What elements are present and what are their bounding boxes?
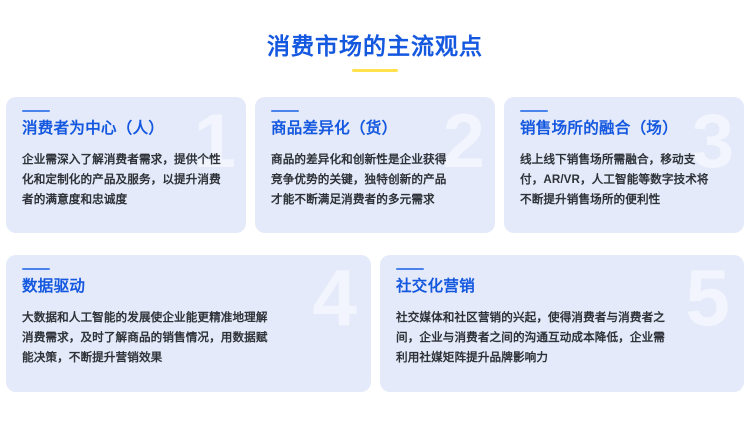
card-body-line: 不断提升销售场所的便利性	[520, 190, 728, 210]
card-body-line: 企业需深入了解消费者需求，提供个性	[22, 150, 230, 170]
card-body-4: 大数据和人工智能的发展使企业能更精准地理解 消费需求，及时了解商品的销售情况，用…	[22, 308, 355, 368]
page-title: 消费市场的主流观点	[0, 31, 750, 61]
card-2[interactable]: 2 商品差异化（货） 商品的差异化和创新性是企业获得 竞争优势的关键，独特创新的…	[255, 97, 495, 233]
card-body-line: 能决策，不断提升营销效果	[22, 348, 355, 368]
card-body-5: 社交媒体和社区营销的兴起，使得消费者与消费者之 间，企业与消费者之间的沟通互动成…	[396, 308, 728, 368]
card-rule-icon	[22, 268, 50, 270]
card-rule-icon	[22, 110, 50, 112]
card-5[interactable]: 5 社交化营销 社交媒体和社区营销的兴起，使得消费者与消费者之 间，企业与消费者…	[380, 255, 744, 392]
card-title-5: 社交化营销	[396, 276, 728, 298]
card-4[interactable]: 4 数据驱动 大数据和人工智能的发展使企业能更精准地理解 消费需求，及时了解商品…	[6, 255, 371, 392]
card-body-1: 企业需深入了解消费者需求，提供个性 化和定制化的产品及服务，以提升消费 者的满意…	[22, 150, 230, 210]
card-rule-icon	[396, 268, 424, 270]
card-3[interactable]: 3 销售场所的融合（场） 线上线下销售场所需融合，移动支 付，AR/VR，人工智…	[504, 97, 744, 233]
card-body-line: 者的满意度和忠诚度	[22, 190, 230, 210]
card-title-1: 消费者为中心（人）	[22, 118, 230, 140]
card-body-2: 商品的差异化和创新性是企业获得 竞争优势的关键，独特创新的产品 才能不断满足消费…	[271, 150, 479, 210]
card-body-line: 线上线下销售场所需融合，移动支	[520, 150, 728, 170]
card-body-line: 消费需求，及时了解商品的销售情况，用数据赋	[22, 328, 355, 348]
card-body-line: 利用社媒矩阵提升品牌影响力	[396, 348, 728, 368]
card-body-3: 线上线下销售场所需融合，移动支 付，AR/VR，人工智能等数字技术将 不断提升销…	[520, 150, 728, 210]
card-body-line: 付，AR/VR，人工智能等数字技术将	[520, 170, 728, 190]
title-block: 消费市场的主流观点	[0, 0, 750, 72]
card-body-line: 间，企业与消费者之间的沟通互动成本降低，企业需	[396, 328, 728, 348]
card-title-3: 销售场所的融合（场）	[520, 118, 728, 140]
card-body-line: 商品的差异化和创新性是企业获得	[271, 150, 479, 170]
card-rule-icon	[520, 110, 548, 112]
card-body-line: 大数据和人工智能的发展使企业能更精准地理解	[22, 308, 355, 328]
infographic-page: 消费市场的主流观点 1 消费者为中心（人） 企业需深入了解消费者需求，提供个性 …	[0, 0, 750, 422]
card-body-line: 竞争优势的关键，独特创新的产品	[271, 170, 479, 190]
card-1[interactable]: 1 消费者为中心（人） 企业需深入了解消费者需求，提供个性 化和定制化的产品及服…	[6, 97, 246, 233]
card-body-line: 才能不断满足消费者的多元需求	[271, 190, 479, 210]
card-body-line: 化和定制化的产品及服务，以提升消费	[22, 170, 230, 190]
card-row-bottom: 4 数据驱动 大数据和人工智能的发展使企业能更精准地理解 消费需求，及时了解商品…	[6, 255, 744, 392]
card-grid: 1 消费者为中心（人） 企业需深入了解消费者需求，提供个性 化和定制化的产品及服…	[6, 97, 744, 392]
card-rule-icon	[271, 110, 299, 112]
card-body-line: 社交媒体和社区营销的兴起，使得消费者与消费者之	[396, 308, 728, 328]
title-underline	[352, 69, 398, 72]
card-title-2: 商品差异化（货）	[271, 118, 479, 140]
card-row-top: 1 消费者为中心（人） 企业需深入了解消费者需求，提供个性 化和定制化的产品及服…	[6, 97, 744, 233]
card-title-4: 数据驱动	[22, 276, 355, 298]
